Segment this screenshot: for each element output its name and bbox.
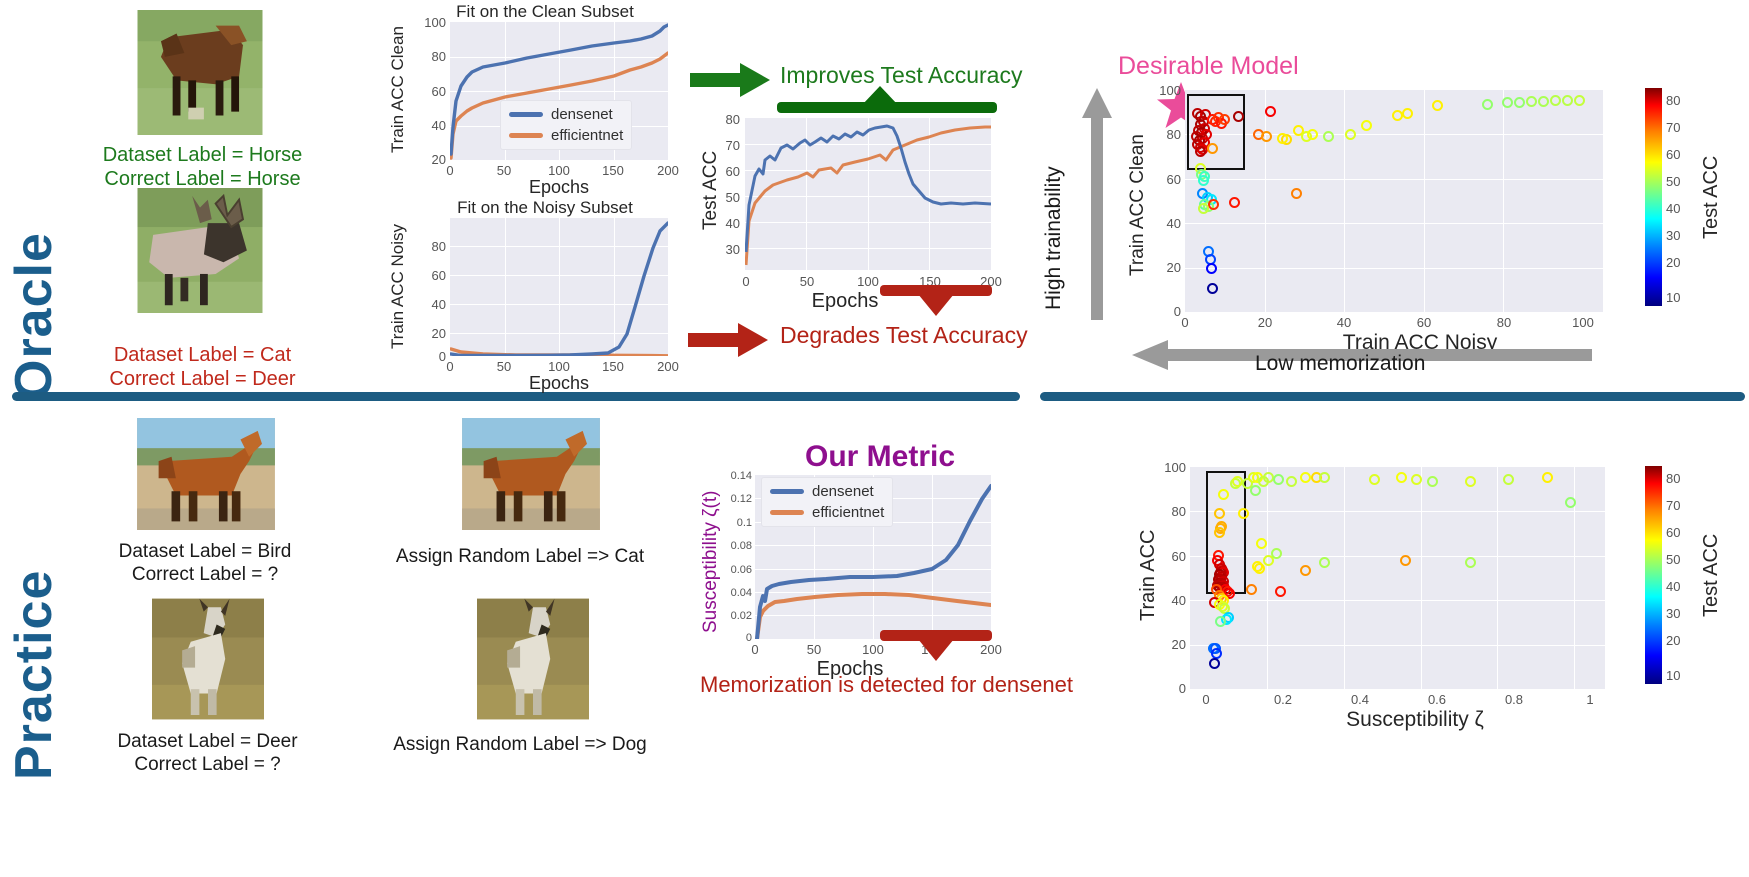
chart-test-acc-lines <box>745 118 991 270</box>
scatter-point <box>1246 584 1257 595</box>
legend-row-densenet-metric: densenet <box>770 483 884 500</box>
scatter-point <box>1218 489 1229 500</box>
chart-scatter-oracle-xtick-80: 80 <box>1490 315 1518 330</box>
scatter-point <box>1291 188 1302 199</box>
section-label-practice: Practice <box>8 500 60 780</box>
chart-test-acc-xtick-50: 50 <box>793 274 821 289</box>
cifar-horse-assign-image <box>460 418 602 530</box>
colorbar-oracle-tick-10: 10 <box>1666 290 1680 305</box>
chart-scatter-practice-xtick-08: 0.8 <box>1495 692 1533 707</box>
chart-scatter-practice-ytick-0: 0 <box>1156 681 1186 696</box>
red-right-arrow-icon <box>688 322 770 358</box>
scatter-point <box>1465 476 1476 487</box>
annotation-desirable-model: Desirable Model <box>1118 52 1299 81</box>
chart-test-acc-ytick-40: 40 <box>710 216 740 231</box>
scatter-point <box>1503 474 1514 485</box>
chart-our-metric-ytick-014: 0.14 <box>718 470 752 482</box>
cifar-horse-clean-image <box>135 10 265 135</box>
chart-fit-noisy-xtick-0: 0 <box>436 359 464 374</box>
chart-scatter-oracle-xtick-60: 60 <box>1410 315 1438 330</box>
chart-our-metric-xtick-200: 200 <box>977 642 1005 657</box>
chart-fit-clean-xtick-0: 0 <box>436 163 464 178</box>
chart-test-acc-xtick-100: 100 <box>854 274 882 289</box>
chart-our-metric-ytick-002: 0.02 <box>718 610 752 622</box>
section-label-oracle: Oracle <box>8 150 60 400</box>
chart-fit-clean-xlabel: Epochs <box>450 177 668 198</box>
colorbar-oracle-tick-50: 50 <box>1666 174 1680 189</box>
chart-scatter-practice-ylabel: Train ACC <box>1137 495 1160 655</box>
scatter-point <box>1514 97 1525 108</box>
colorbar-practice-tick-20: 20 <box>1666 633 1680 648</box>
annotation-high-trainability: High trainability <box>1042 110 1066 310</box>
chart-scatter-practice-ytick-60: 60 <box>1156 549 1186 564</box>
chart-fit-clean-xtick-100: 100 <box>545 163 573 178</box>
scatter-point <box>1502 97 1513 108</box>
scatter-oracle-points <box>1185 90 1603 312</box>
legend-row-densenet: densenet <box>509 106 623 123</box>
legend-line-efficientnet <box>509 133 543 138</box>
cifar-horse-practice-image <box>135 418 277 530</box>
chart-fit-noisy-xtick-200: 200 <box>654 359 682 374</box>
chart-fit-noisy-ytick-60: 60 <box>416 268 446 283</box>
chart-scatter-practice-ytick-80: 80 <box>1156 504 1186 519</box>
chart-fit-clean-ytick-80: 80 <box>416 49 446 64</box>
chart-fit-clean-legend: densenet efficientnet <box>500 100 632 150</box>
scatter-point <box>1526 96 1537 107</box>
colorbar-oracle-tick-30: 30 <box>1666 228 1680 243</box>
scatter-point <box>1319 557 1330 568</box>
chart-fit-noisy-xlabel: Epochs <box>450 373 668 394</box>
scatter-point <box>1396 472 1407 483</box>
oracle-caption-horse: Dataset Label = Horse Correct Label = Ho… <box>70 143 335 192</box>
chart-our-metric-title: Our Metric <box>760 440 1000 474</box>
cifar-deer-practice-image <box>152 598 264 720</box>
scatter-point <box>1550 95 1561 106</box>
practice-assign-horse <box>460 418 602 535</box>
practice-assign-deer <box>477 598 589 725</box>
chart-test-acc-ytick-80: 80 <box>710 112 740 127</box>
legend-line-densenet-metric <box>770 489 804 494</box>
chart-fit-noisy-lines <box>450 218 668 356</box>
legend-label-densenet: densenet <box>551 106 613 123</box>
scatter-point <box>1345 129 1356 140</box>
chart-scatter-practice-ytick-20: 20 <box>1156 637 1186 652</box>
chart-our-metric-plotarea: densenet efficientnet <box>755 475 991 639</box>
annotation-memorization-detected: Memorization is detected for densenet <box>700 672 1073 698</box>
chart-test-acc-ytick-60: 60 <box>710 164 740 179</box>
scatter-point <box>1233 111 1244 122</box>
scatter-point <box>1432 100 1443 111</box>
divider-right <box>1040 392 1745 401</box>
annotation-degrades-test-accuracy: Degrades Test Accuracy <box>780 322 1028 349</box>
practice-assign-caption-dog: Assign Random Label => Dog <box>380 733 660 756</box>
scatter-point <box>1219 114 1230 125</box>
colorbar-oracle-tick-20: 20 <box>1666 255 1680 270</box>
chart-fit-clean-ytick-100: 100 <box>416 15 446 30</box>
chart-scatter-oracle: Train ACC Clean 100 80 60 40 20 0 0 20 4… <box>1125 78 1605 338</box>
chart-our-metric: Our Metric Susceptibility ζ(t) densenet … <box>700 440 1000 660</box>
red-down-triangle-icon-bottom <box>916 638 956 662</box>
scatter-point <box>1538 96 1549 107</box>
chart-scatter-oracle-ytick-40: 40 <box>1151 216 1181 231</box>
chart-fit-clean: Fit on the Clean Subset Train ACC Clean … <box>390 2 680 197</box>
chart-our-metric-legend: densenet efficientnet <box>761 477 893 527</box>
scatter-point <box>1565 497 1576 508</box>
scatter-point <box>1542 472 1553 483</box>
legend-line-efficientnet-metric <box>770 510 804 515</box>
colorbar-oracle-tick-80: 80 <box>1666 93 1680 108</box>
oracle-caption-deer: Dataset Label = Cat Correct Label = Deer <box>65 343 340 392</box>
chart-scatter-oracle-plotarea <box>1185 90 1603 312</box>
high-trainability-arrow-icon <box>1080 88 1114 320</box>
scatter-point <box>1427 476 1438 487</box>
chart-scatter-oracle-xtick-0: 0 <box>1171 315 1199 330</box>
legend-label-densenet-metric: densenet <box>812 483 874 500</box>
chart-fit-clean-plotarea: densenet efficientnet <box>450 22 668 160</box>
chart-our-metric-ytick-010: 0.1 <box>718 517 752 529</box>
colorbar-practice-tick-60: 60 <box>1666 525 1680 540</box>
scatter-point <box>1261 131 1272 142</box>
scatter-point <box>1211 648 1222 659</box>
chart-fit-noisy-title: Fit on the Noisy Subset <box>410 198 680 218</box>
chart-fit-clean-xtick-150: 150 <box>599 163 627 178</box>
scatter-point <box>1319 472 1330 483</box>
scatter-point <box>1273 474 1284 485</box>
annotation-improves-test-accuracy: Improves Test Accuracy <box>780 62 1022 89</box>
chart-test-acc-xtick-0: 0 <box>732 274 760 289</box>
scatter-point <box>1207 143 1218 154</box>
chart-fit-noisy-ylabel: Train ACC Noisy <box>388 216 408 356</box>
green-right-arrow-icon <box>690 62 772 98</box>
scatter-point <box>1482 99 1493 110</box>
chart-fit-noisy: Fit on the Noisy Subset Train ACC Noisy … <box>390 198 680 393</box>
chart-our-metric-ytick-006: 0.06 <box>718 564 752 576</box>
chart-test-acc: Test ACC 80 70 60 50 40 30 0 50 100 150 … <box>700 100 1000 315</box>
colorbar-practice-tick-30: 30 <box>1666 606 1680 621</box>
chart-scatter-practice-xtick-10: 1 <box>1571 692 1609 707</box>
chart-fit-noisy-ytick-40: 40 <box>416 297 446 312</box>
practice-example-deer <box>152 598 264 725</box>
chart-scatter-oracle-xtick-40: 40 <box>1330 315 1358 330</box>
chart-scatter-practice-xlabel: Susceptibility ζ <box>1300 708 1530 732</box>
chart-fit-noisy-ytick-20: 20 <box>416 326 446 341</box>
legend-row-efficientnet: efficientnet <box>509 127 623 144</box>
scatter-point <box>1198 175 1209 186</box>
chart-fit-noisy-xtick-50: 50 <box>490 359 518 374</box>
chart-fit-clean-xtick-50: 50 <box>490 163 518 178</box>
colorbar-practice-tick-10: 10 <box>1666 668 1680 683</box>
chart-scatter-oracle-xtick-20: 20 <box>1251 315 1279 330</box>
chart-scatter-oracle-ytick-80: 80 <box>1151 127 1181 142</box>
chart-our-metric-xtick-100: 100 <box>859 642 887 657</box>
chart-our-metric-ytick-004: 0.04 <box>718 587 752 599</box>
scatter-point <box>1208 199 1219 210</box>
scatter-point <box>1256 538 1267 549</box>
legend-line-densenet <box>509 112 543 117</box>
scatter-point <box>1562 95 1573 106</box>
scatter-point <box>1361 120 1372 131</box>
scatter-point <box>1465 557 1476 568</box>
chart-scatter-oracle-xtick-100: 100 <box>1569 315 1597 330</box>
chart-scatter-practice-ytick-40: 40 <box>1156 593 1186 608</box>
chart-test-acc-ytick-30: 30 <box>710 242 740 257</box>
scatter-point <box>1198 203 1209 214</box>
legend-label-efficientnet: efficientnet <box>551 127 623 144</box>
scatter-point <box>1195 146 1206 157</box>
chart-fit-clean-ylabel: Train ACC Clean <box>388 20 408 160</box>
colorbar-oracle <box>1645 88 1662 306</box>
colorbar-oracle-label: Test ACC <box>1700 125 1723 270</box>
chart-scatter-oracle-ytick-60: 60 <box>1151 172 1181 187</box>
scatter-point <box>1214 508 1225 519</box>
chart-fit-clean-ytick-40: 40 <box>416 118 446 133</box>
scatter-point <box>1574 95 1585 106</box>
scatter-point <box>1323 131 1334 142</box>
scatter-point <box>1411 474 1422 485</box>
chart-our-metric-xtick-50: 50 <box>800 642 828 657</box>
colorbar-practice-tick-80: 80 <box>1666 471 1680 486</box>
scatter-point <box>1265 106 1276 117</box>
oracle-example-horse <box>135 10 265 140</box>
scatter-point <box>1300 472 1311 483</box>
chart-our-metric-ytick-012: 0.12 <box>718 493 752 505</box>
colorbar-practice <box>1645 466 1662 684</box>
scatter-point <box>1207 283 1218 294</box>
scatter-point <box>1300 565 1311 576</box>
chart-scatter-practice-xtick-00: 0 <box>1187 692 1225 707</box>
scatter-point <box>1250 485 1261 496</box>
scatter-point <box>1275 586 1286 597</box>
colorbar-practice-tick-50: 50 <box>1666 552 1680 567</box>
cifar-deer-assign-image <box>477 598 589 720</box>
chart-scatter-oracle-ylabel: Train ACC Clean <box>1127 98 1149 313</box>
practice-caption-deer: Dataset Label = Deer Correct Label = ? <box>80 730 335 776</box>
chart-fit-clean-ytick-60: 60 <box>416 84 446 99</box>
colorbar-practice-tick-40: 40 <box>1666 579 1680 594</box>
scatter-practice-points <box>1190 467 1605 689</box>
chart-scatter-practice-xtick-04: 0.4 <box>1341 692 1379 707</box>
chart-fit-clean-title: Fit on the Clean Subset <box>410 2 680 22</box>
colorbar-oracle-tick-60: 60 <box>1666 147 1680 162</box>
colorbar-practice-label: Test ACC <box>1700 503 1723 648</box>
chart-fit-noisy-plotarea <box>450 218 668 356</box>
chart-scatter-oracle-ytick-100: 100 <box>1151 83 1181 98</box>
practice-example-horse <box>135 418 277 535</box>
cifar-deer-noisy-image <box>135 188 265 313</box>
practice-caption-horse: Dataset Label = Bird Correct Label = ? <box>80 540 330 586</box>
annotation-low-memorization: Low memorization <box>1255 352 1425 376</box>
scatter-point <box>1307 129 1318 140</box>
chart-scatter-practice-ytick-100: 100 <box>1156 460 1186 475</box>
chart-fit-clean-xtick-200: 200 <box>654 163 682 178</box>
scatter-point <box>1209 658 1220 669</box>
chart-scatter-practice-xtick-06: 0.6 <box>1418 692 1456 707</box>
oracle-example-deer <box>135 188 265 318</box>
scatter-point <box>1369 474 1380 485</box>
chart-scatter-practice-plotarea <box>1190 467 1605 689</box>
chart-scatter-practice: Train ACC 100 80 60 40 20 0 0 0.2 0.4 0.… <box>1125 455 1605 715</box>
red-down-triangle-icon <box>916 293 956 317</box>
chart-scatter-oracle-ytick-20: 20 <box>1151 260 1181 275</box>
scatter-point <box>1402 108 1413 119</box>
chart-fit-noisy-xtick-150: 150 <box>599 359 627 374</box>
colorbar-practice-tick-70: 70 <box>1666 498 1680 513</box>
chart-test-acc-ytick-50: 50 <box>710 190 740 205</box>
chart-fit-noisy-xtick-100: 100 <box>545 359 573 374</box>
scatter-point <box>1400 555 1411 566</box>
scatter-point <box>1214 527 1225 538</box>
chart-test-acc-ytick-70: 70 <box>710 138 740 153</box>
chart-fit-noisy-ytick-80: 80 <box>416 239 446 254</box>
chart-our-metric-xtick-0: 0 <box>741 642 769 657</box>
scatter-point <box>1229 197 1240 208</box>
practice-assign-caption-cat: Assign Random Label => Cat <box>380 545 660 568</box>
legend-label-efficientnet-metric: efficientnet <box>812 504 884 521</box>
scatter-point <box>1238 508 1249 519</box>
scatter-point <box>1286 476 1297 487</box>
scatter-point <box>1271 548 1282 559</box>
chart-our-metric-ytick-008: 0.08 <box>718 540 752 552</box>
scatter-point <box>1206 263 1217 274</box>
chart-test-acc-plotarea <box>745 118 991 270</box>
chart-scatter-practice-xtick-02: 0.2 <box>1264 692 1302 707</box>
colorbar-oracle-tick-70: 70 <box>1666 120 1680 135</box>
green-up-triangle-icon <box>860 86 900 106</box>
colorbar-oracle-tick-40: 40 <box>1666 201 1680 216</box>
scatter-point <box>1254 563 1265 574</box>
scatter-point <box>1215 616 1226 627</box>
legend-row-efficientnet-metric: efficientnet <box>770 504 884 521</box>
